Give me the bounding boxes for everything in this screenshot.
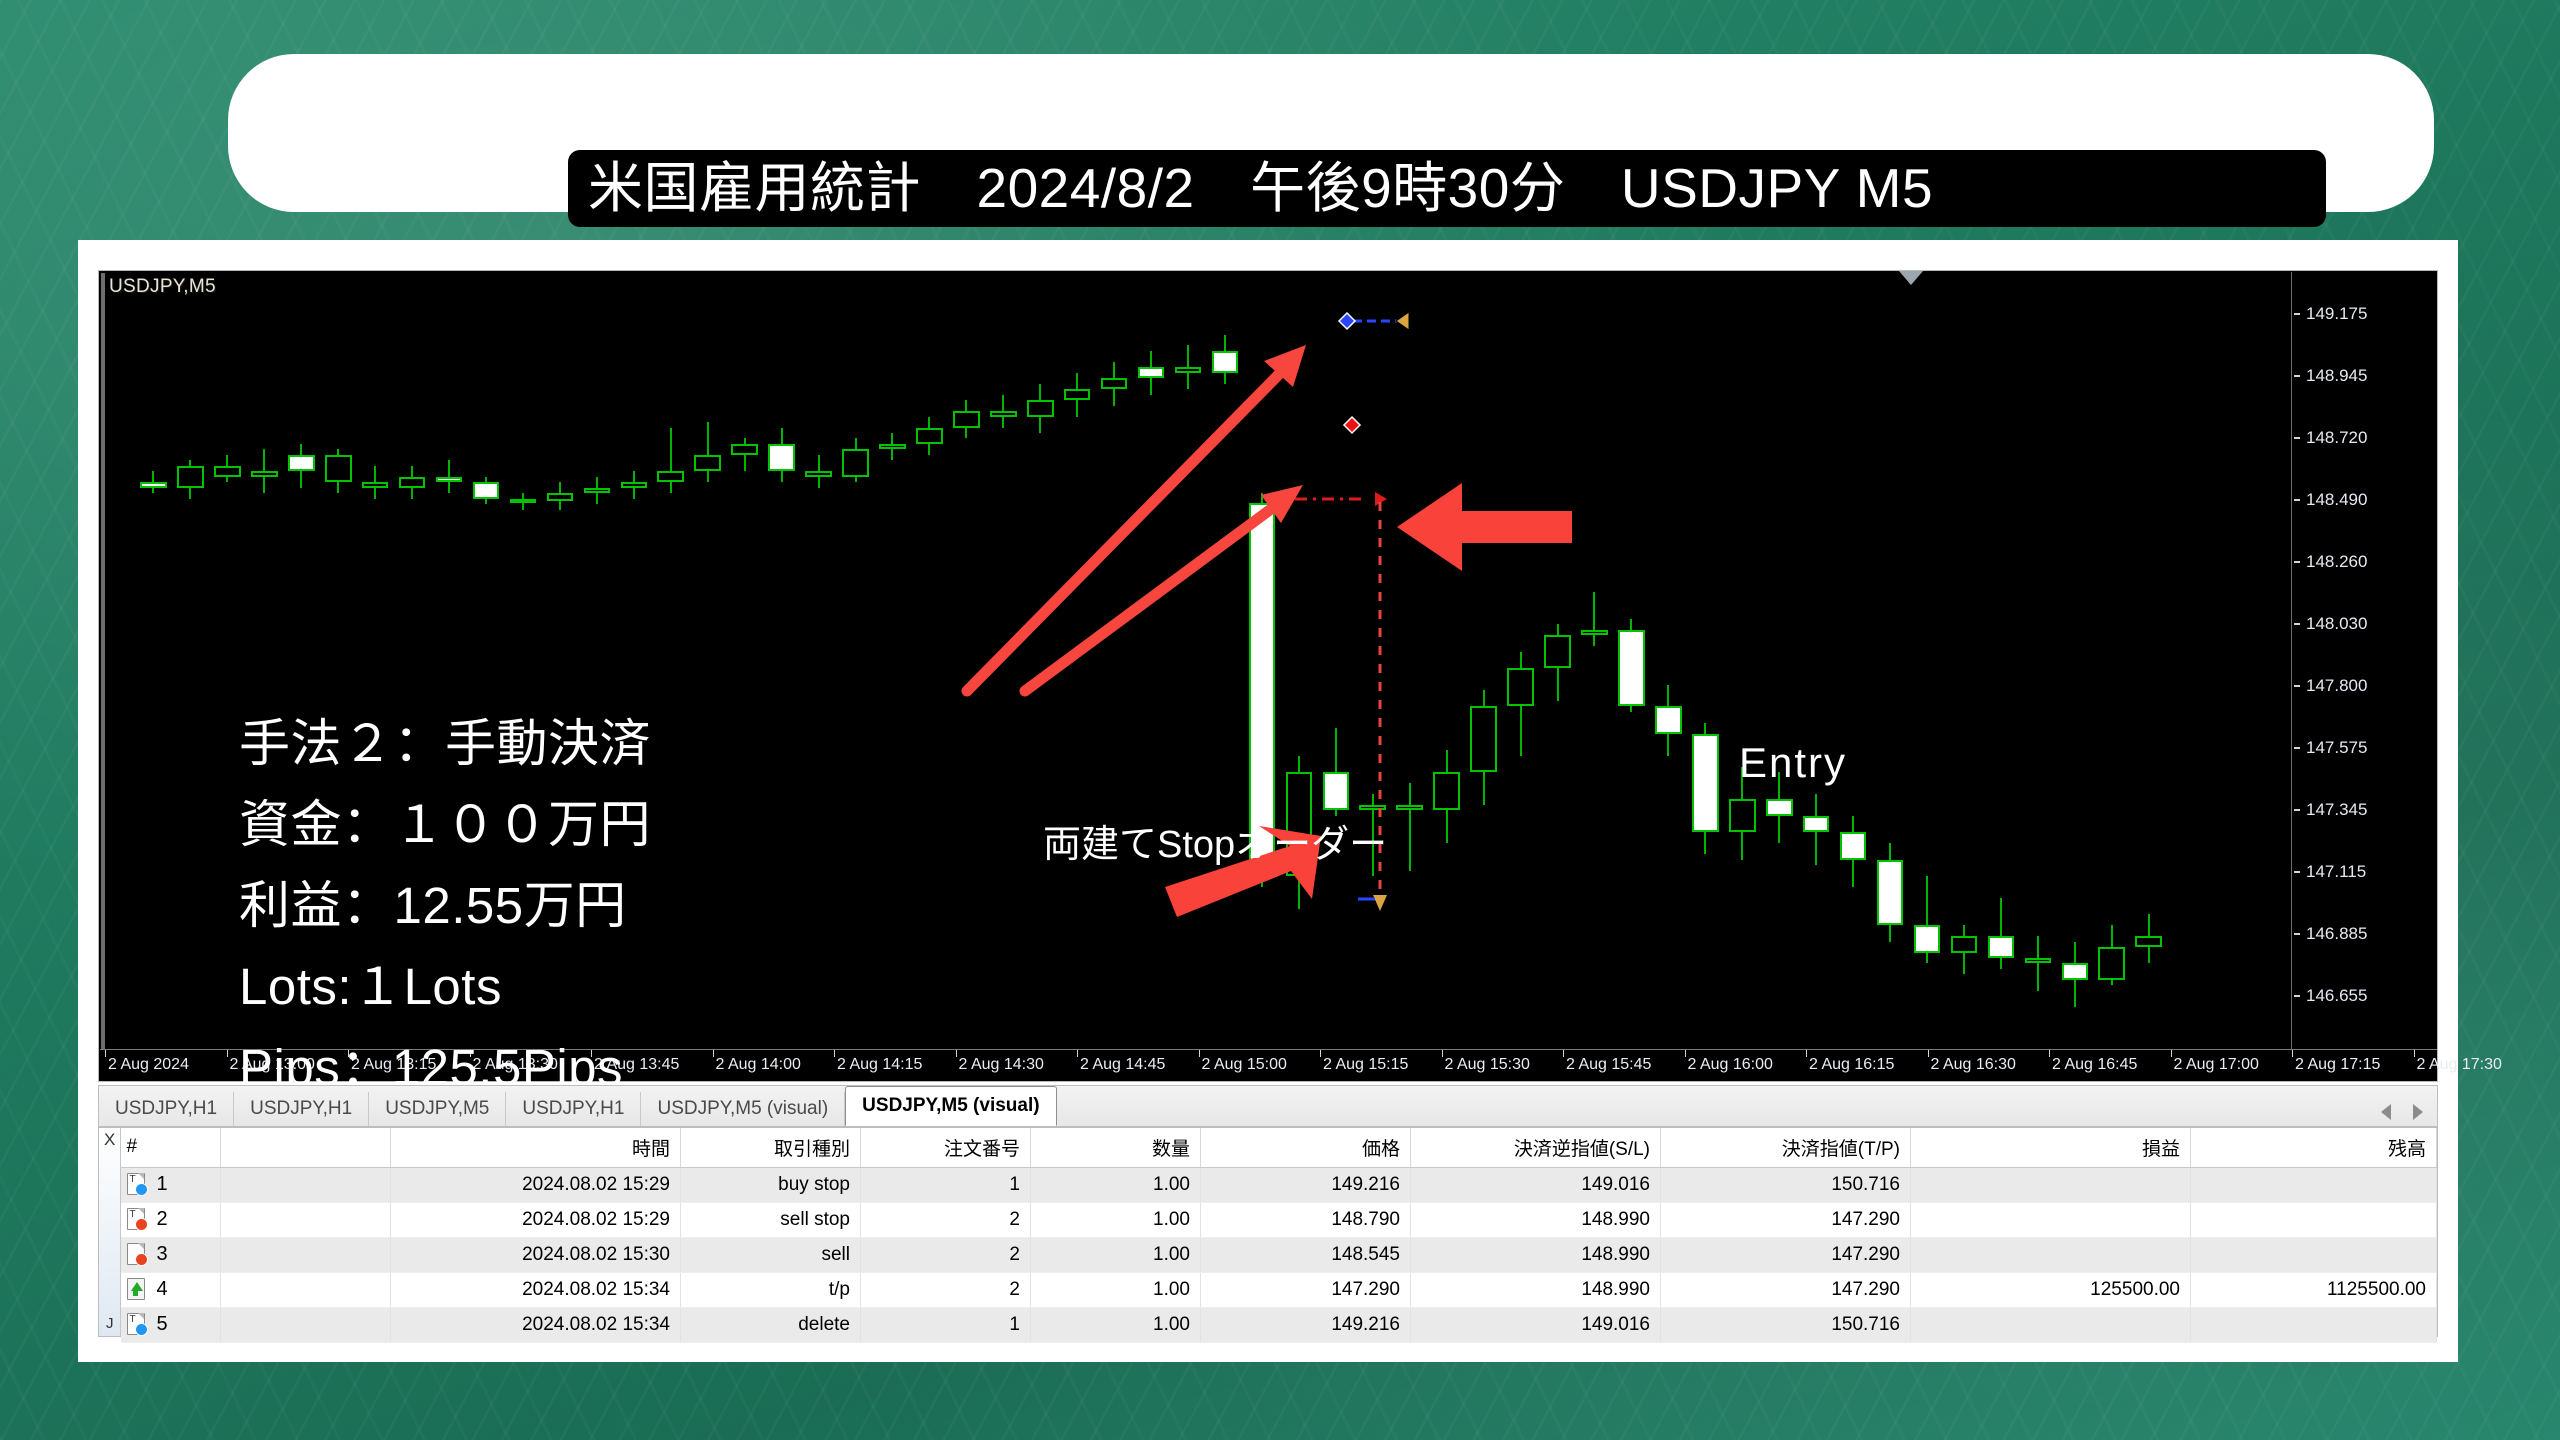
candle — [2025, 299, 2052, 1051]
candle — [2098, 299, 2125, 1051]
cell-blank — [221, 1238, 391, 1273]
row-number: 2 — [157, 1208, 168, 1230]
candle — [1877, 299, 1904, 1051]
trade-report-table: #時間取引種別注文番号数量価格決済逆指値(S/L)決済指値(T/P)損益残高 T… — [121, 1128, 2438, 1343]
candle — [1396, 299, 1423, 1051]
cell-index: T5 — [121, 1308, 221, 1343]
candle — [1101, 299, 1128, 1051]
candle — [1951, 299, 1978, 1051]
candle — [768, 299, 795, 1051]
candle — [1470, 299, 1497, 1051]
cell-index: T2 — [121, 1203, 221, 1238]
cell-tp: 147.290 — [1661, 1273, 1911, 1308]
tab-3[interactable]: USDJPY,H1 — [506, 1092, 641, 1126]
row-number: 1 — [157, 1173, 168, 1195]
cell-price: 148.545 — [1201, 1238, 1411, 1273]
page-title: 米国雇用統計 2024/8/2 午後9時30分 USDJPY M5 — [588, 161, 1933, 216]
candle — [1803, 299, 1830, 1051]
cell-balance — [2191, 1203, 2437, 1238]
column-header-1[interactable] — [221, 1128, 391, 1168]
price-tick: 147.575 — [2292, 738, 2436, 758]
cell-blank — [221, 1308, 391, 1343]
tab-2[interactable]: USDJPY,M5 — [369, 1092, 506, 1126]
table-row[interactable]: 32024.08.02 15:30sell21.00148.545148.990… — [121, 1238, 2437, 1273]
candle — [1064, 299, 1091, 1051]
column-header-8[interactable]: 決済指値(T/P) — [1661, 1128, 1911, 1168]
stats-line-1: 資金：１００万円 — [239, 784, 651, 865]
cell-type: sell stop — [681, 1203, 861, 1238]
candle — [1544, 299, 1571, 1051]
row-number: 5 — [157, 1313, 168, 1335]
price-tick: 147.115 — [2292, 862, 2436, 882]
price-tick: 148.260 — [2292, 552, 2436, 572]
candle — [805, 299, 832, 1051]
price-tick: 148.720 — [2292, 428, 2436, 448]
cell-price: 149.216 — [1201, 1308, 1411, 1343]
candle — [953, 299, 980, 1051]
table-header-row: #時間取引種別注文番号数量価格決済逆指値(S/L)決済指値(T/P)損益残高 — [121, 1128, 2437, 1168]
cell-time: 2024.08.02 15:30 — [391, 1238, 681, 1273]
cell-index: 3 — [121, 1238, 221, 1273]
candle — [879, 299, 906, 1051]
tab-scroll-right-icon[interactable] — [2413, 1104, 2423, 1120]
tab-scroll-controls[interactable] — [2381, 1104, 2437, 1126]
column-header-4[interactable]: 注文番号 — [861, 1128, 1031, 1168]
cell-volume: 1.00 — [1031, 1238, 1201, 1273]
chart-drag-marker-icon[interactable] — [1899, 271, 1923, 285]
chart-symbol-label: USDJPY,M5 — [109, 276, 216, 298]
column-header-2[interactable]: 時間 — [391, 1128, 681, 1168]
cell-time: 2024.08.02 15:34 — [391, 1273, 681, 1308]
table-row[interactable]: T12024.08.02 15:29buy stop11.00149.21614… — [121, 1168, 2437, 1203]
chart-left-rail — [101, 273, 105, 1063]
cell-price: 149.216 — [1201, 1168, 1411, 1203]
cell-profit: 125500.00 — [1911, 1273, 2191, 1308]
cell-profit — [1911, 1203, 2191, 1238]
column-header-5[interactable]: 数量 — [1031, 1128, 1201, 1168]
cell-sl: 148.990 — [1411, 1203, 1661, 1238]
take-profit-icon — [127, 1278, 149, 1302]
candle — [1433, 299, 1460, 1051]
column-header-7[interactable]: 決済逆指値(S/L) — [1411, 1128, 1661, 1168]
row-number: 4 — [157, 1278, 168, 1300]
cell-sl: 149.016 — [1411, 1308, 1661, 1343]
cell-volume: 1.00 — [1031, 1308, 1201, 1343]
stats-line-2: 利益：12.55万円 — [239, 865, 651, 946]
candle — [214, 299, 241, 1051]
order-doc-red-icon: T — [127, 1208, 149, 1232]
cell-balance — [2191, 1168, 2437, 1203]
cell-order: 2 — [861, 1273, 1031, 1308]
tab-4[interactable]: USDJPY,M5 (visual) — [641, 1092, 845, 1126]
cell-order: 1 — [861, 1168, 1031, 1203]
candle — [1175, 299, 1202, 1051]
candle — [1618, 299, 1645, 1051]
cell-volume: 1.00 — [1031, 1168, 1201, 1203]
price-tick: 146.885 — [2292, 924, 2436, 944]
candle — [1212, 299, 1239, 1051]
price-tick: 148.945 — [2292, 366, 2436, 386]
chart-tab-strip[interactable]: USDJPY,H1USDJPY,H1USDJPY,M5USDJPY,H1USDJ… — [98, 1085, 2438, 1127]
candle — [140, 299, 167, 1051]
cell-type: delete — [681, 1308, 861, 1343]
column-header-3[interactable]: 取引種別 — [681, 1128, 861, 1168]
report-close-icon[interactable]: X — [104, 1130, 115, 1150]
cell-tp: 147.290 — [1661, 1238, 1911, 1273]
cell-type: buy stop — [681, 1168, 861, 1203]
chart-window[interactable]: USDJPY,M5 — [98, 270, 2438, 1082]
price-axis[interactable]: 149.175148.945148.720148.490148.260148.0… — [2291, 272, 2436, 1080]
candle — [1249, 299, 1276, 1051]
cell-index: 4 — [121, 1273, 221, 1308]
candle — [1988, 299, 2015, 1051]
candle — [1914, 299, 1941, 1051]
report-gutter: X J — [99, 1128, 121, 1336]
candle — [990, 299, 1017, 1051]
candle — [1655, 299, 1682, 1051]
cell-sl: 148.990 — [1411, 1273, 1661, 1308]
order-doc-blue-icon: T — [127, 1173, 149, 1197]
price-tick: 147.345 — [2292, 800, 2436, 820]
candle — [842, 299, 869, 1051]
cell-tp: 147.290 — [1661, 1203, 1911, 1238]
cell-type: t/p — [681, 1273, 861, 1308]
cell-price: 148.790 — [1201, 1203, 1411, 1238]
tab-scroll-left-icon[interactable] — [2381, 1104, 2391, 1120]
cell-profit — [1911, 1238, 2191, 1273]
cell-balance: 1125500.00 — [2191, 1273, 2437, 1308]
price-tick: 148.030 — [2292, 614, 2436, 634]
candle — [2062, 299, 2089, 1051]
annotation-entry-label: Entry — [1739, 739, 1847, 787]
cell-order: 2 — [861, 1203, 1031, 1238]
table-row[interactable]: T22024.08.02 15:29sell stop21.00148.7901… — [121, 1203, 2437, 1238]
cell-time: 2024.08.02 15:29 — [391, 1168, 681, 1203]
cell-tp: 150.716 — [1661, 1308, 1911, 1343]
report-gutter-mark: J — [106, 1315, 114, 1332]
stats-line-0: 手法２：手動決済 — [239, 703, 651, 784]
tab-0[interactable]: USDJPY,H1 — [99, 1092, 234, 1126]
cell-sl: 148.990 — [1411, 1238, 1661, 1273]
column-header-10[interactable]: 残高 — [2191, 1128, 2437, 1168]
candle — [657, 299, 684, 1051]
table-row[interactable]: 42024.08.02 15:34t/p21.00147.290148.9901… — [121, 1273, 2437, 1308]
candle — [1138, 299, 1165, 1051]
cell-balance — [2191, 1238, 2437, 1273]
cell-profit — [1911, 1308, 2191, 1343]
candle — [916, 299, 943, 1051]
candle — [177, 299, 204, 1051]
candle — [1840, 299, 1867, 1051]
cell-time: 2024.08.02 15:34 — [391, 1308, 681, 1343]
cell-order: 1 — [861, 1308, 1031, 1343]
annotation-stop-order-label: 両建てStopオーダー — [1043, 813, 1387, 868]
tab-5-active[interactable]: USDJPY,M5 (visual) — [845, 1086, 1056, 1126]
price-tick: 148.490 — [2292, 490, 2436, 510]
table-row[interactable]: T52024.08.02 15:34delete11.00149.216149.… — [121, 1308, 2437, 1343]
cell-index: T1 — [121, 1168, 221, 1203]
column-header-6[interactable]: 価格 — [1201, 1128, 1411, 1168]
cell-order: 2 — [861, 1238, 1031, 1273]
candle — [1692, 299, 1719, 1051]
cell-sl: 149.016 — [1411, 1168, 1661, 1203]
order-doc-blue-icon: T — [127, 1313, 149, 1337]
candle — [1766, 299, 1793, 1051]
candle — [1359, 299, 1386, 1051]
cell-time: 2024.08.02 15:29 — [391, 1203, 681, 1238]
candle — [694, 299, 721, 1051]
cell-balance — [2191, 1308, 2437, 1343]
candle — [731, 299, 758, 1051]
candle — [1027, 299, 1054, 1051]
column-header-9[interactable]: 損益 — [1911, 1128, 2191, 1168]
candle — [2135, 299, 2162, 1051]
cell-tp: 150.716 — [1661, 1168, 1911, 1203]
cell-profit — [1911, 1168, 2191, 1203]
cell-blank — [221, 1273, 391, 1308]
price-tick: 146.655 — [2292, 986, 2436, 1006]
cell-blank — [221, 1203, 391, 1238]
candle — [1507, 299, 1534, 1051]
cell-volume: 1.00 — [1031, 1203, 1201, 1238]
tab-1[interactable]: USDJPY,H1 — [234, 1092, 369, 1126]
cell-volume: 1.00 — [1031, 1273, 1201, 1308]
column-header-0[interactable]: # — [121, 1128, 221, 1168]
cell-type: sell — [681, 1238, 861, 1273]
trade-report-panel: X J #時間取引種別注文番号数量価格決済逆指値(S/L)決済指値(T/P)損益… — [98, 1127, 2438, 1337]
cell-blank — [221, 1168, 391, 1203]
candle — [1286, 299, 1313, 1051]
order-doc-red-icon — [127, 1243, 149, 1267]
candle — [1323, 299, 1350, 1051]
title-banner: 米国雇用統計 2024/8/2 午後9時30分 USDJPY M5 — [568, 150, 2326, 227]
candle — [1729, 299, 1756, 1051]
candle — [1581, 299, 1608, 1051]
app-panel: USDJPY,M5 — [78, 240, 2458, 1362]
stats-line-3: Lots:１Lots — [239, 946, 651, 1027]
price-tick: 147.800 — [2292, 676, 2436, 696]
price-tick: 149.175 — [2292, 304, 2436, 324]
title-card: 米国雇用統計 2024/8/2 午後9時30分 USDJPY M5 — [228, 54, 2434, 212]
cell-price: 147.290 — [1201, 1273, 1411, 1308]
row-number: 3 — [157, 1243, 168, 1265]
table-body: T12024.08.02 15:29buy stop11.00149.21614… — [121, 1168, 2437, 1343]
